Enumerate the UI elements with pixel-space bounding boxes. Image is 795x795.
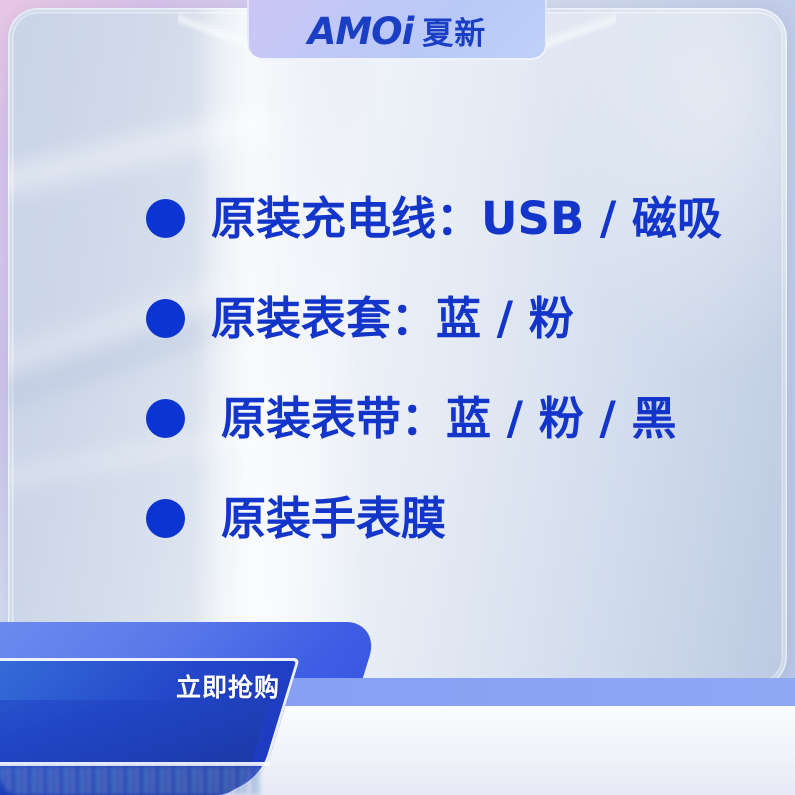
filled-circle-bullet-icon <box>146 499 185 538</box>
feature-label: 原装手表膜 <box>221 496 446 541</box>
feature-row: 原装表带：蓝 / 粉 / 黑 <box>0 368 779 468</box>
feature-list: 原装充电线：USB / 磁吸 原装表套：蓝 / 粉 原装表带：蓝 / 粉 / 黑… <box>0 168 779 568</box>
feature-label: 原装表带：蓝 / 粉 / 黑 <box>221 396 677 441</box>
brand-header-tab: AMOi 夏新 <box>247 0 547 60</box>
filled-circle-bullet-icon <box>146 199 185 238</box>
brand-chinese-name: 夏新 <box>422 19 486 50</box>
brand-latin-wordmark: AMOi <box>308 13 414 50</box>
feature-row: 原装手表膜 <box>0 468 779 568</box>
feature-row: 原装充电线：USB / 磁吸 <box>0 168 779 268</box>
buy-now-button-label[interactable]: 立即抢购 <box>168 668 288 704</box>
feature-label: 原装表套：蓝 / 粉 <box>211 296 574 341</box>
feature-label: 原装充电线：USB / 磁吸 <box>211 196 722 241</box>
decorative-noise-strip <box>0 766 260 795</box>
promo-poster: AMOi 夏新 原装充电线：USB / 磁吸 原装表套：蓝 / 粉 原装表带：蓝… <box>0 0 795 795</box>
feature-row: 原装表套：蓝 / 粉 <box>0 268 779 368</box>
filled-circle-bullet-icon <box>146 399 185 438</box>
brand-logo: AMOi 夏新 <box>308 13 487 50</box>
filled-circle-bullet-icon <box>146 299 185 338</box>
